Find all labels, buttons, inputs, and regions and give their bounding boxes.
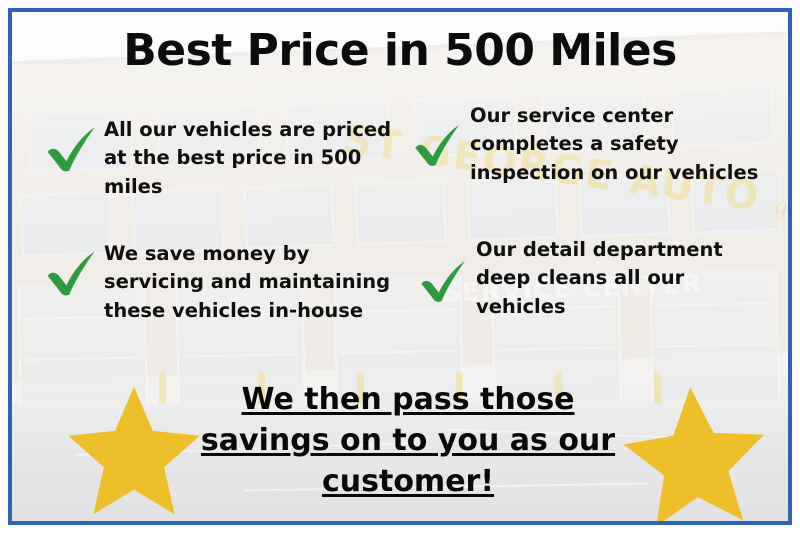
closing-statement: We then pass those savings on to you as …: [172, 380, 644, 502]
benefit-text: All our vehicles are priced at the best …: [104, 116, 394, 201]
flyer-content: Best Price in 500 Miles All our vehicles…: [12, 12, 788, 521]
benefit-text: We save money by servicing and maintaini…: [104, 240, 412, 325]
page-title: Best Price in 500 Miles: [12, 28, 788, 75]
benefit-item-1: All our vehicles are priced at the best …: [42, 116, 394, 201]
benefit-text: Our service center completes a safety in…: [470, 102, 790, 187]
green-check-icon: [42, 120, 102, 180]
gold-star-icon: [64, 384, 204, 520]
benefit-text: Our detail department deep cleans all ou…: [476, 236, 746, 321]
green-check-icon: [42, 244, 102, 304]
benefit-item-2: Our service center completes a safety in…: [410, 102, 790, 187]
promotional-flyer: ST GEORGE AUTO gallery SERVICE CENTER Be…: [0, 0, 800, 533]
benefit-item-3: We save money by servicing and maintaini…: [42, 240, 412, 325]
green-check-icon: [410, 118, 466, 174]
benefit-item-4: Our detail department deep cleans all ou…: [416, 236, 746, 321]
blue-border-frame: ST GEORGE AUTO gallery SERVICE CENTER Be…: [8, 8, 792, 525]
green-check-icon: [416, 254, 472, 310]
gold-star-icon: [620, 384, 770, 524]
